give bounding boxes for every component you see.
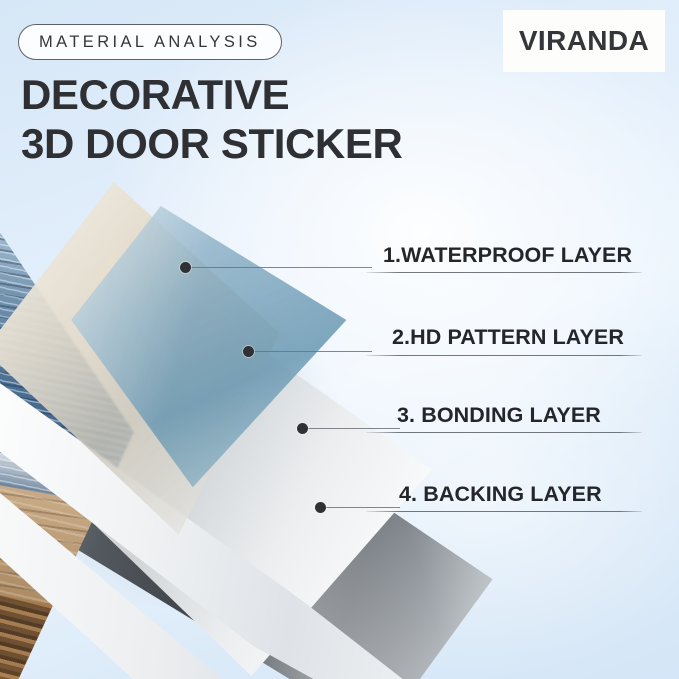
callout-label-2: 2.HD PATTERN LAYER	[392, 325, 624, 350]
callout-label-4: 4. BACKING LAYER	[399, 482, 602, 507]
eyebrow-badge: MATERIAL ANALYSIS	[18, 24, 282, 60]
page-title: DECORATIVE 3D DOOR STICKER	[21, 70, 491, 168]
brand-name: VIRANDA	[519, 25, 649, 57]
callout-rule-2	[366, 355, 642, 356]
callout-leader-3	[302, 428, 400, 429]
callout-leader-1	[185, 267, 372, 268]
callout-rule-1	[366, 272, 642, 273]
callout-label-1: 1.WATERPROOF LAYER	[383, 243, 632, 268]
callout-rule-3	[366, 432, 642, 433]
callout-dot-4	[315, 502, 326, 513]
eyebrow-text: MATERIAL ANALYSIS	[39, 33, 261, 52]
callout-leader-4	[320, 507, 400, 508]
infographic-canvas: MATERIAL ANALYSIS DECORATIVE 3D DOOR STI…	[0, 0, 679, 679]
title-line-1: DECORATIVE	[21, 70, 491, 119]
callout-dot-1	[180, 262, 191, 273]
callout-dot-3	[297, 423, 308, 434]
callout-dot-2	[243, 346, 254, 357]
brand-logo: VIRANDA	[503, 10, 665, 72]
callout-leader-2	[248, 351, 372, 352]
callout-label-3: 3. BONDING LAYER	[397, 403, 601, 428]
title-line-2: 3D DOOR STICKER	[21, 119, 491, 168]
callout-rule-4	[366, 511, 642, 512]
